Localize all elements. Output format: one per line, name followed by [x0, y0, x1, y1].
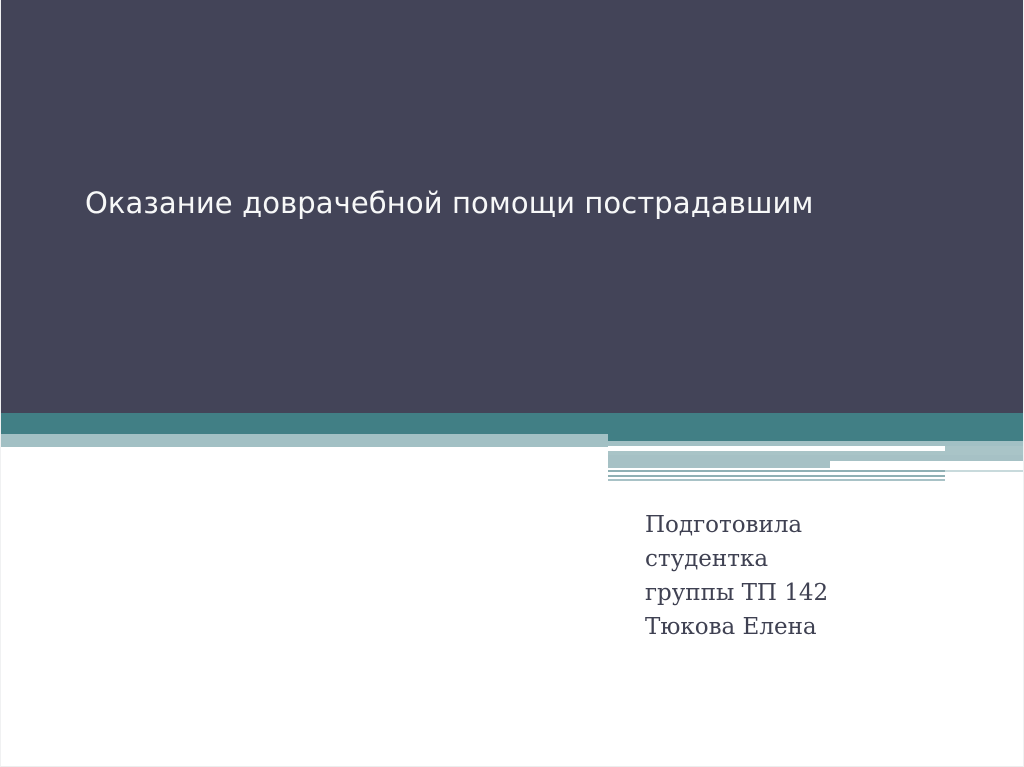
slide-title: Оказание доврачебной помощи пострадавшим — [85, 182, 845, 225]
hairline-1-extension — [945, 470, 1024, 472]
slide-subtitle: Подготовила студентка группы ТП 142 Тюко… — [645, 508, 985, 644]
stripe-middle-gap — [608, 446, 945, 451]
stripe-lower-gap — [830, 461, 1024, 468]
subtitle-block: Подготовила студентка группы ТП 142 Тюко… — [645, 508, 985, 644]
hairline-2 — [608, 475, 945, 477]
hairline-3 — [608, 479, 945, 481]
teal-band-right-step — [608, 413, 1024, 441]
presentation-slide: Оказание доврачебной помощи пострадавшим… — [0, 0, 1024, 767]
title-block: Оказание доврачебной помощи пострадавшим — [85, 182, 845, 225]
decorative-band-group — [0, 413, 1024, 483]
hairline-1 — [608, 470, 945, 472]
light-band-left — [0, 434, 608, 447]
